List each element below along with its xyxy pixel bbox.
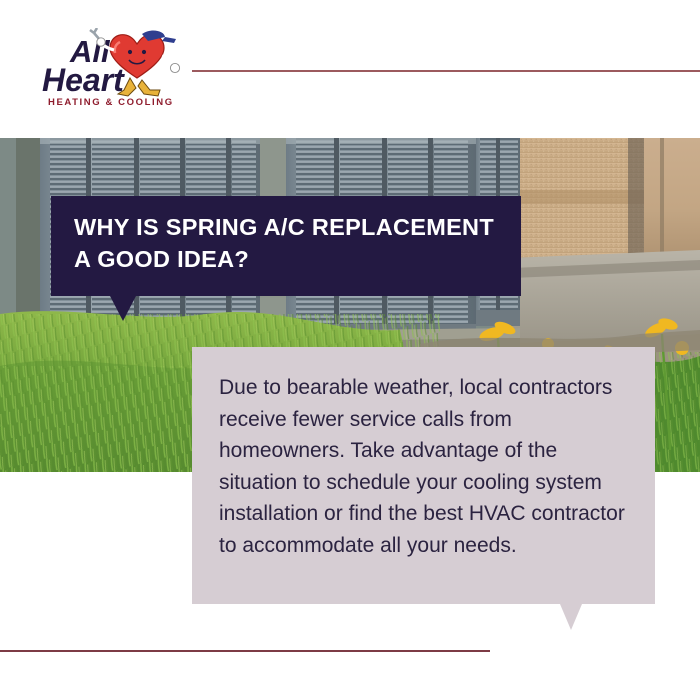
headline-callout: WHY IS SPRING A/C REPLACEMENT A GOOD IDE…	[51, 196, 521, 296]
headline-callout-tail	[110, 296, 136, 321]
body-paragraph: Due to bearable weather, local contracto…	[219, 372, 634, 561]
page-title: WHY IS SPRING A/C REPLACEMENT A GOOD IDE…	[74, 211, 504, 275]
heart-mascot-icon: All Heart HEATING & COOLING	[24, 28, 184, 110]
infographic-page: All Heart HEATING & COOLING	[0, 0, 700, 700]
body-callout: Due to bearable weather, local contracto…	[192, 347, 655, 604]
page-header: All Heart HEATING & COOLING	[0, 0, 700, 138]
header-divider-line	[192, 70, 700, 72]
body-callout-tail	[560, 604, 582, 630]
svg-text:Heart: Heart	[42, 62, 125, 98]
brand-logo[interactable]: All Heart HEATING & COOLING	[24, 28, 184, 110]
svg-text:HEATING & COOLING: HEATING & COOLING	[48, 97, 174, 108]
footer-divider-line	[0, 650, 490, 652]
